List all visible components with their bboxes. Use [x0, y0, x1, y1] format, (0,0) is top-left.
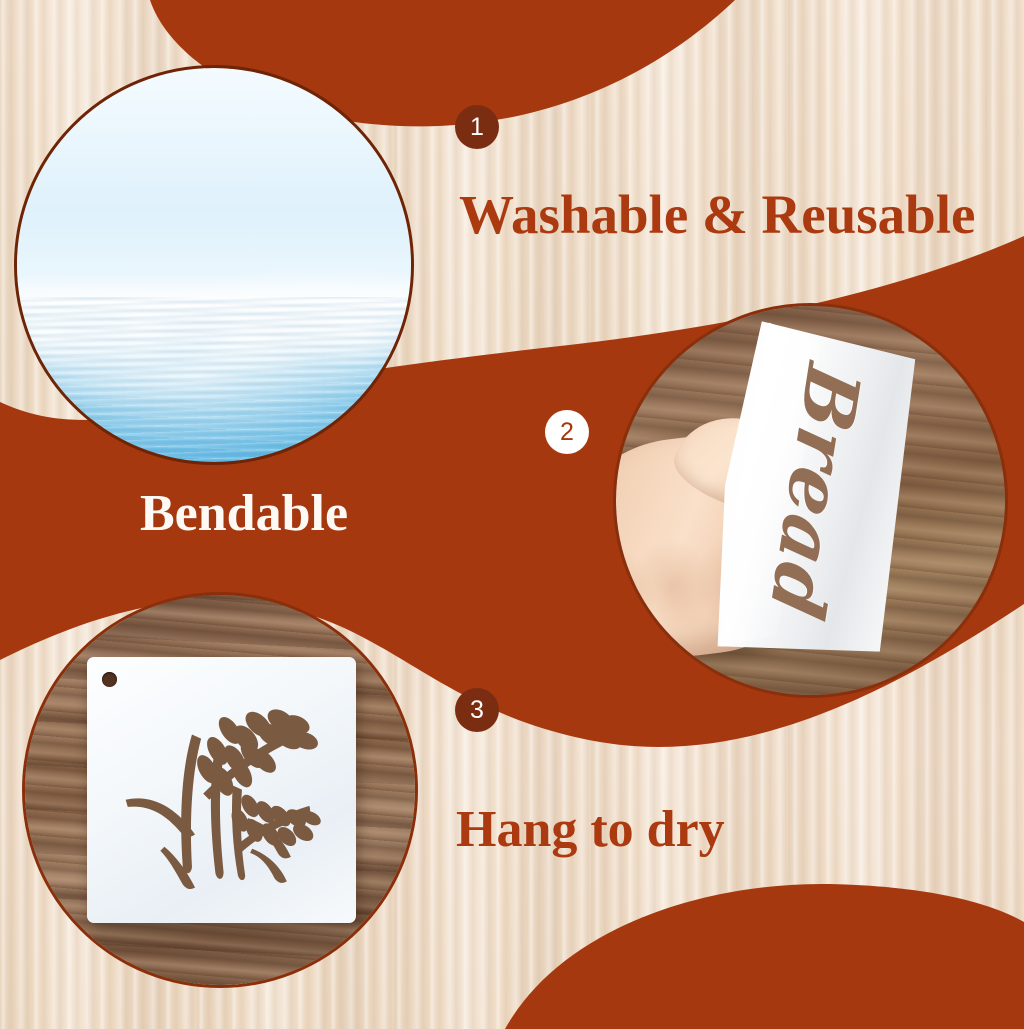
water-photo-circle [14, 65, 414, 465]
infographic-canvas: Bread [0, 0, 1024, 1029]
hand-bending-stencil-circle: Bread [613, 303, 1008, 698]
hand-photo-inner: Bread [616, 306, 1005, 695]
wheat-stencil-circle [22, 592, 418, 988]
step-badge-3: 3 [455, 688, 499, 732]
step-badge-2: 2 [545, 410, 589, 454]
step-heading-bendable: Bendable [140, 484, 348, 543]
water-photo-inner [17, 68, 411, 462]
wheat-cutout-art [87, 657, 356, 922]
water-image [17, 68, 411, 462]
wheat-photo-inner [25, 595, 415, 985]
step-heading-hang-to-dry: Hang to dry [456, 800, 725, 859]
step-badge-1: 1 [455, 105, 499, 149]
rust-shape-bottom-right [505, 884, 1024, 1029]
wheat-stencil-sheet [87, 657, 356, 922]
water-ripples [17, 297, 411, 462]
step-heading-washable-reusable: Washable & Reusable [459, 183, 975, 246]
